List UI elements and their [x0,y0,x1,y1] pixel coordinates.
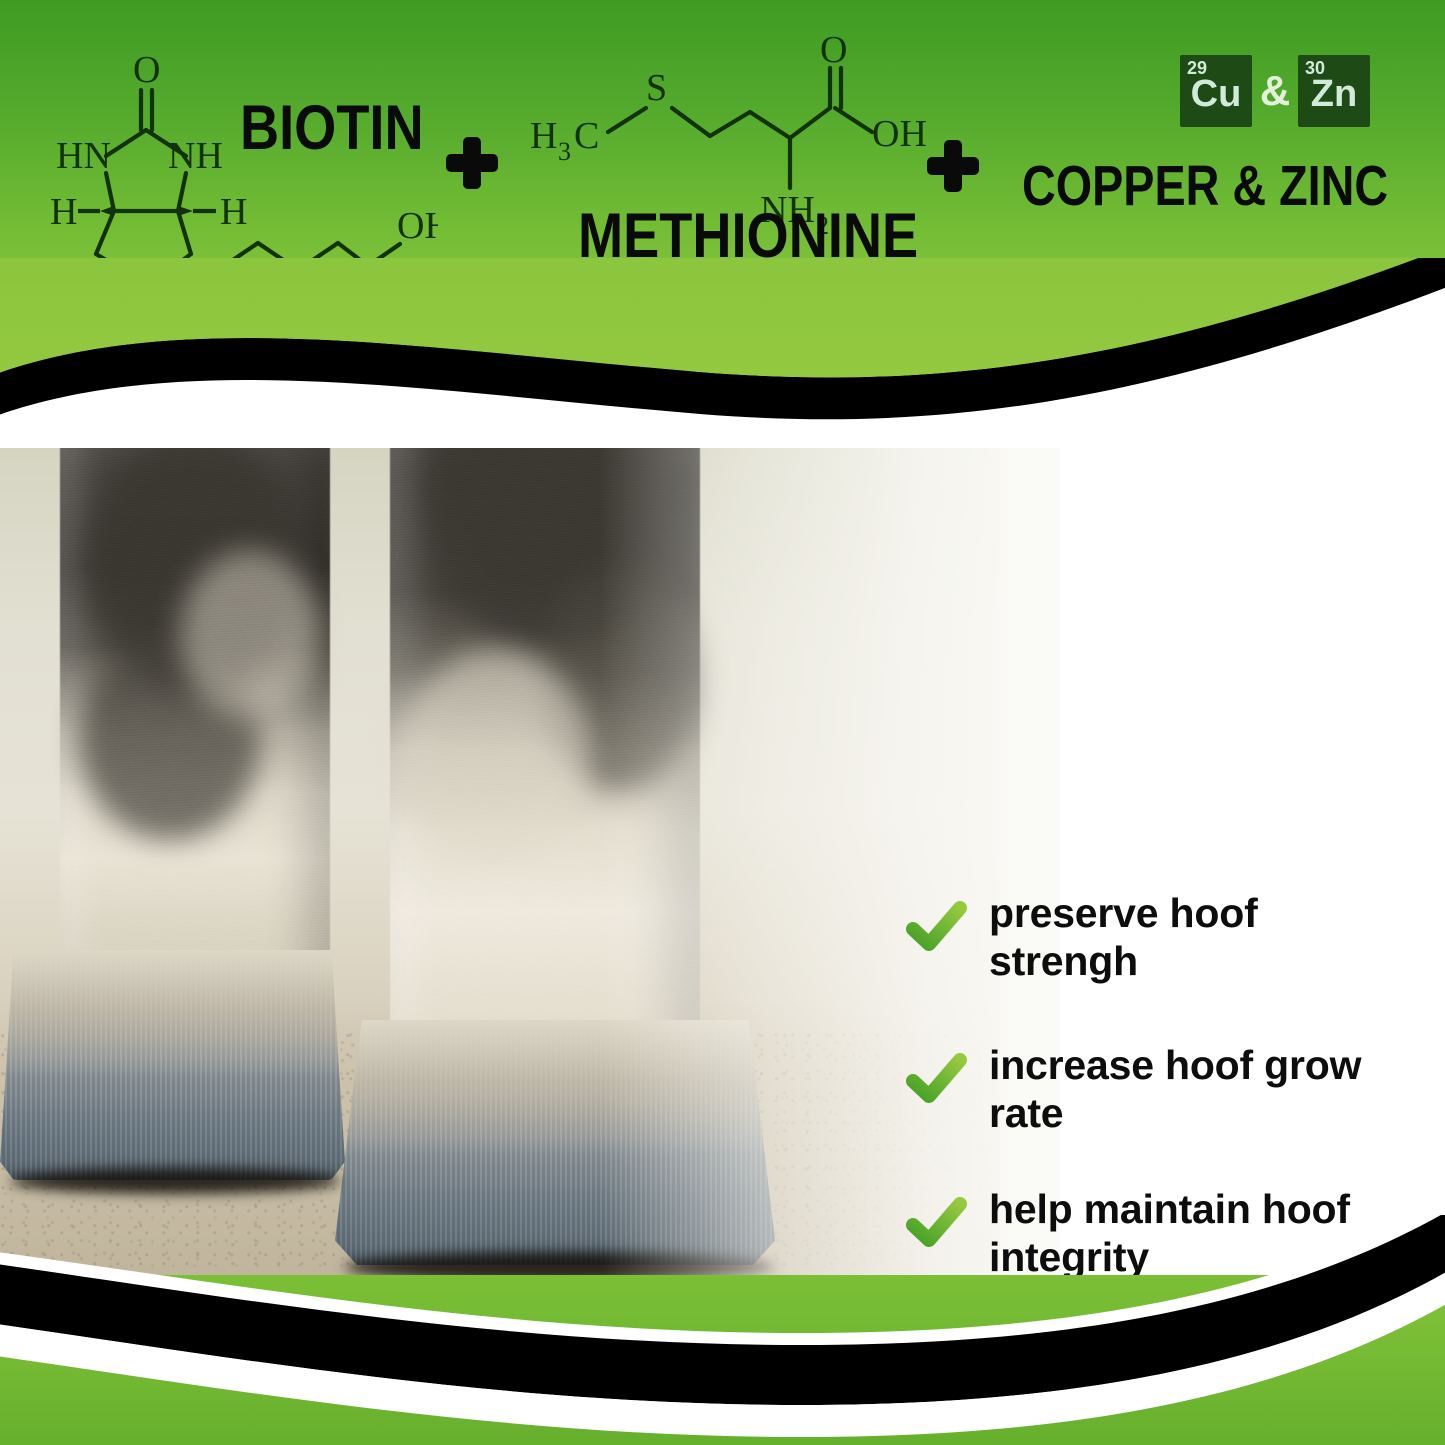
benefit-label-3: help maintain hoof integrity [989,1186,1399,1281]
element-symbol-copper: Cu [1180,75,1252,113]
promo-poster: O HN NH H H S OH O BIOTIN [0,0,1445,1445]
benefit-item-1: preserve hoof strengh [905,890,1399,985]
biotin-atom-HN: HN [56,135,111,177]
ingredient-label-biotin: BIOTIN [240,97,424,160]
check-icon [905,896,967,958]
biotin-atom-O-top: O [133,49,160,91]
ingredient-label-methionine: METHIONINE [578,205,918,268]
svg-text:H: H [530,115,557,157]
check-icon [905,1192,967,1254]
periodic-tiles-group: 29 Cu & 30 Zn [1180,55,1370,127]
benefit-label-1: preserve hoof strengh [989,890,1399,985]
photo-and-benefits-area: preserve hoof strengh increase hoof grow… [0,330,1445,1330]
svg-text:3: 3 [558,137,571,166]
plus-icon-1 [446,137,498,189]
plus-icon-2 [927,140,979,192]
horse-hooves-photo [0,330,1000,1330]
check-icon [905,1048,967,1110]
periodic-tile-zinc: 30 Zn [1298,55,1370,127]
biotin-atom-OH: OH [397,205,438,247]
biotin-atom-H-right: H [220,191,247,233]
biotin-atom-S: S [130,263,151,293]
svg-text:O: O [820,36,847,71]
header-green-band: O HN NH H H S OH O BIOTIN [0,0,1445,372]
hoof-left [0,950,345,1180]
footer-green-band [0,1275,1445,1445]
svg-text:C: C [574,115,599,157]
benefit-label-2: increase hoof grow rate [989,1042,1399,1137]
biotin-atom-H-left: H [50,191,77,233]
element-symbol-zinc: Zn [1298,75,1370,113]
biotin-atom-NH: NH [168,135,223,177]
ampersand-separator: & [1252,55,1298,127]
periodic-tile-copper: 29 Cu [1180,55,1252,127]
benefit-item-2: increase hoof grow rate [905,1042,1399,1137]
horse-leg-left [60,370,330,1030]
benefits-panel [1060,330,1445,1330]
svg-text:OH: OH [872,113,927,155]
ingredient-row: O HN NH H H S OH O BIOTIN [0,0,1445,300]
hoof-shadow-left [10,1168,340,1194]
ingredient-label-copper-zinc: COPPER & ZINC [1022,158,1388,215]
svg-text:S: S [646,67,667,109]
benefit-item-3: help maintain hoof integrity [905,1186,1399,1281]
biotin-molecule-diagram: O HN NH H H S OH O [48,38,438,293]
